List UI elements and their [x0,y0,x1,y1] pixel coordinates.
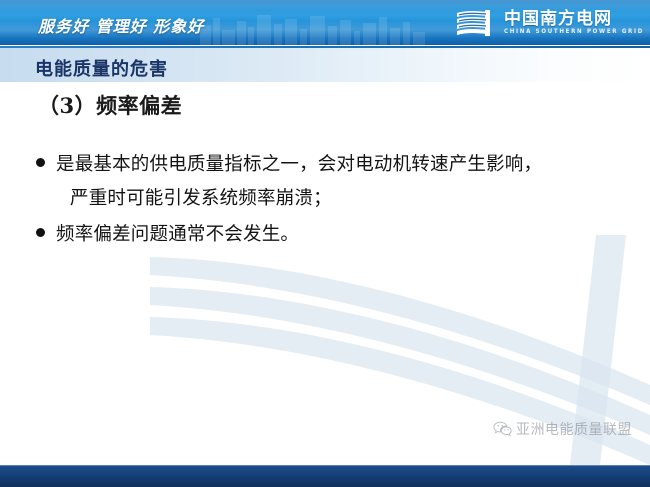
footer-highlight [0,465,650,466]
header-banner: 服务好 管理好 形象好 中国南方电网 CHINA SOUTHERN [0,0,650,45]
wechat-watermark: 亚洲电能质量联盟 [493,419,632,439]
slide-canvas: 服务好 管理好 形象好 中国南方电网 CHINA SOUTHERN [0,0,650,487]
wechat-icon [493,421,512,438]
page-title: 电能质量的危害 [35,55,168,81]
cityscape-silhouette [196,8,456,45]
bullet-dot-icon [36,158,45,167]
slide-content: （3）频率偏差 是最基本的供电质量指标之一，会对电动机转速产生影响， 严重时可能… [0,82,650,465]
bullet-list: 是最基本的供电质量指标之一，会对电动机转速产生影响， 严重时可能引发系统频率崩溃… [30,148,638,254]
csg-english-name: CHINA SOUTHERN POWER GRID [504,30,644,36]
wechat-watermark-text: 亚洲电能质量联盟 [516,419,632,439]
bullet-text-line: 频率偏差问题通常不会发生。 [56,218,638,252]
csg-logo-mark [455,8,499,38]
footer-bar [0,465,650,487]
list-item: 频率偏差问题通常不会发生。 [30,218,638,252]
csg-logo-text: 中国南方电网 CHINA SOUTHERN POWER GRID [504,11,644,36]
header-slogan: 服务好 管理好 形象好 [38,13,204,37]
csg-logo: 中国南方电网 CHINA SOUTHERN POWER GRID [455,6,644,40]
bullet-dot-icon [36,228,45,237]
list-item: 是最基本的供电质量指标之一，会对电动机转速产生影响， 严重时可能引发系统频率崩溃… [30,148,638,216]
section-subtitle: （3）频率偏差 [38,90,182,120]
bullet-text-line: 严重时可能引发系统频率崩溃； [56,182,638,216]
csg-chinese-name: 中国南方电网 [504,11,644,28]
title-band-rule [0,46,650,48]
bullet-text-line: 是最基本的供电质量指标之一，会对电动机转速产生影响， [56,148,638,182]
